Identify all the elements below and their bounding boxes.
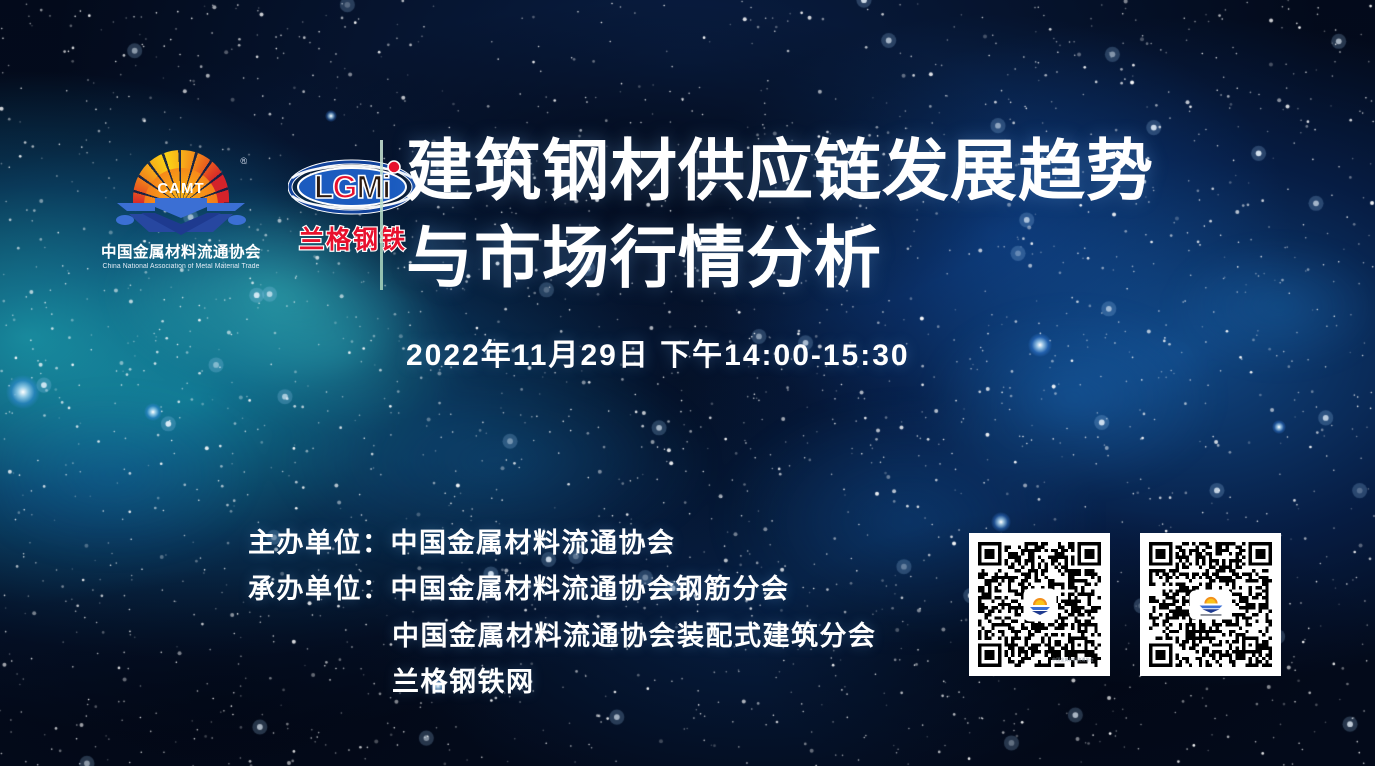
camt-name-en: China National Association of Metal Mate… (99, 263, 264, 270)
logo-group: CAMT ® 中国金属材料流通协会 China National Associa… (96, 150, 418, 270)
camt-monogram: CAMT (111, 180, 251, 197)
lgmi-letter-g: G (333, 171, 357, 203)
title-line-2: 与市场行情分析 (406, 215, 1154, 302)
poster-canvas: CAMT ® 中国金属材料流通协会 China National Associa… (0, 0, 1375, 766)
qr-code-left-pattern: 中国金属材料流通协会 (978, 542, 1101, 667)
lgmi-name-cn: 兰格钢铁 (288, 220, 418, 256)
organizer-block: 主办单位：中国金属材料流通协会 承办单位：中国金属材料流通协会钢筋分会 中国金属… (248, 520, 877, 706)
bright-star-glow (144, 403, 162, 421)
qr-code-left[interactable]: 中国金属材料流通协会 (969, 533, 1110, 676)
camt-badge-icon (1191, 592, 1231, 618)
camt-mini-emblem-icon (1028, 593, 1052, 617)
event-datetime: 2022年11月29日 下午14:00-15:30 (406, 330, 910, 374)
camt-mini-emblem-icon (1192, 592, 1230, 617)
qr-code-right-pattern (1149, 542, 1272, 667)
organizer-line: 主办单位：中国金属材料流通协会 (248, 520, 877, 566)
page-title: 建筑钢材供应链发展趋势 与市场行情分析 (406, 128, 1154, 302)
bright-star-glow (325, 110, 337, 122)
lgmi-wordmark: LGMi (288, 156, 416, 218)
organizer-line: 承办单位：中国金属材料流通协会钢筋分会 (248, 566, 877, 612)
lgmi-logo: LGMi 兰格钢铁 (288, 150, 418, 256)
camt-emblem-icon: CAMT ® (111, 150, 251, 236)
camt-logo: CAMT ® 中国金属材料流通协会 China National Associa… (96, 150, 266, 270)
bright-star-glow (6, 375, 40, 409)
organizer-line: 中国金属材料流通协会装配式建筑分会 (248, 613, 877, 659)
camt-wing-icon (111, 194, 251, 236)
qr-watermark-left: 中国金属材料流通协会 (1052, 657, 1094, 663)
camt-name-cn: 中国金属材料流通协会 (96, 240, 266, 262)
bright-star-glow (1272, 420, 1286, 434)
lgmi-letter-l: L (314, 171, 333, 203)
title-line-1: 建筑钢材供应链发展趋势 (406, 128, 1154, 215)
registered-trademark-icon: ® (240, 156, 247, 166)
qr-code-right[interactable] (1140, 533, 1281, 676)
lgmi-letter-m: M (356, 171, 382, 203)
camt-badge-icon (1025, 590, 1055, 620)
bright-star-glow (1028, 333, 1052, 357)
lgmi-emblem-icon: LGMi (288, 156, 416, 218)
lgmi-letter-i: i (382, 171, 390, 203)
organizer-line: 兰格钢铁网 (248, 659, 877, 705)
bright-star-glow (991, 512, 1011, 532)
